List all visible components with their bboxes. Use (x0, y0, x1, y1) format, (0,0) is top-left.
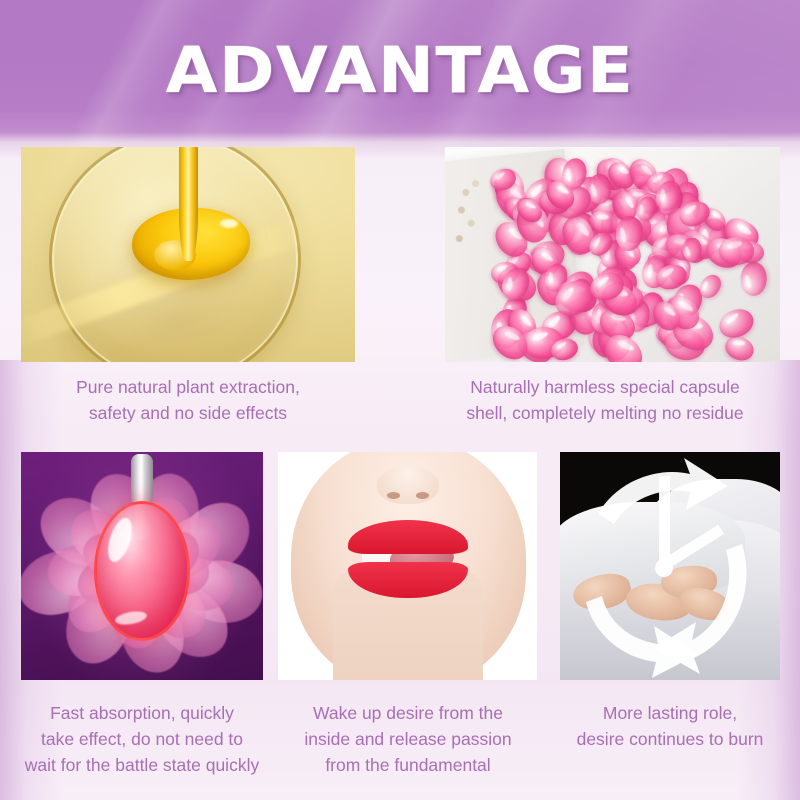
caption-feature-2: Naturally harmless special capsule shell… (430, 374, 780, 426)
lips-illustration (278, 452, 537, 680)
caption-line: shell, completely melting no residue (430, 400, 780, 426)
nostril-right (416, 492, 429, 499)
large-capsule (94, 501, 190, 641)
caption-line: Wake up desire from the (286, 700, 530, 726)
upper-lip (348, 520, 468, 554)
caption-feature-1: Pure natural plant extraction, safety an… (21, 374, 355, 426)
caption-line: Naturally harmless special capsule (430, 374, 780, 400)
caption-line: inside and release passion (286, 726, 530, 752)
bed-clock-illustration (560, 452, 780, 680)
mouth-group (348, 520, 468, 598)
oil-illustration (21, 147, 355, 362)
rose-capsule-illustration (21, 452, 263, 680)
caption-line: take effect, do not need to (8, 726, 276, 752)
oil-stream (179, 147, 198, 261)
feature-image-lips (278, 452, 537, 680)
feature-image-bed-clock (560, 452, 780, 680)
capsule-pile (445, 147, 780, 362)
caption-feature-5: More lasting role, desire continues to b… (552, 700, 788, 752)
caption-line: desire continues to burn (552, 726, 788, 752)
clock-arrow-icon (560, 452, 780, 680)
advantage-poster: ADVANTAGE (0, 0, 800, 800)
feature-image-capsules (445, 147, 780, 362)
capsules-illustration (445, 147, 780, 362)
caption-line: Fast absorption, quickly (8, 700, 276, 726)
page-title: ADVANTAGE (166, 38, 635, 104)
nostril-left (387, 492, 400, 499)
caption-line: Pure natural plant extraction, (21, 374, 355, 400)
caption-line: More lasting role, (552, 700, 788, 726)
capsule (682, 237, 702, 262)
capsule (740, 262, 767, 296)
caption-line: wait for the battle state quickly (8, 752, 276, 778)
feature-image-rose-capsule (21, 452, 263, 680)
caption-feature-3: Fast absorption, quickly take effect, do… (8, 700, 276, 778)
caption-line: from the fundamental (286, 752, 530, 778)
caption-line: safety and no side effects (21, 400, 355, 426)
caption-feature-4: Wake up desire from the inside and relea… (286, 700, 530, 778)
nose-shape (377, 466, 439, 504)
lower-lip (348, 562, 468, 598)
feature-image-oil (21, 147, 355, 362)
page-title-wrap: ADVANTAGE (0, 38, 800, 104)
capsule (715, 305, 758, 344)
